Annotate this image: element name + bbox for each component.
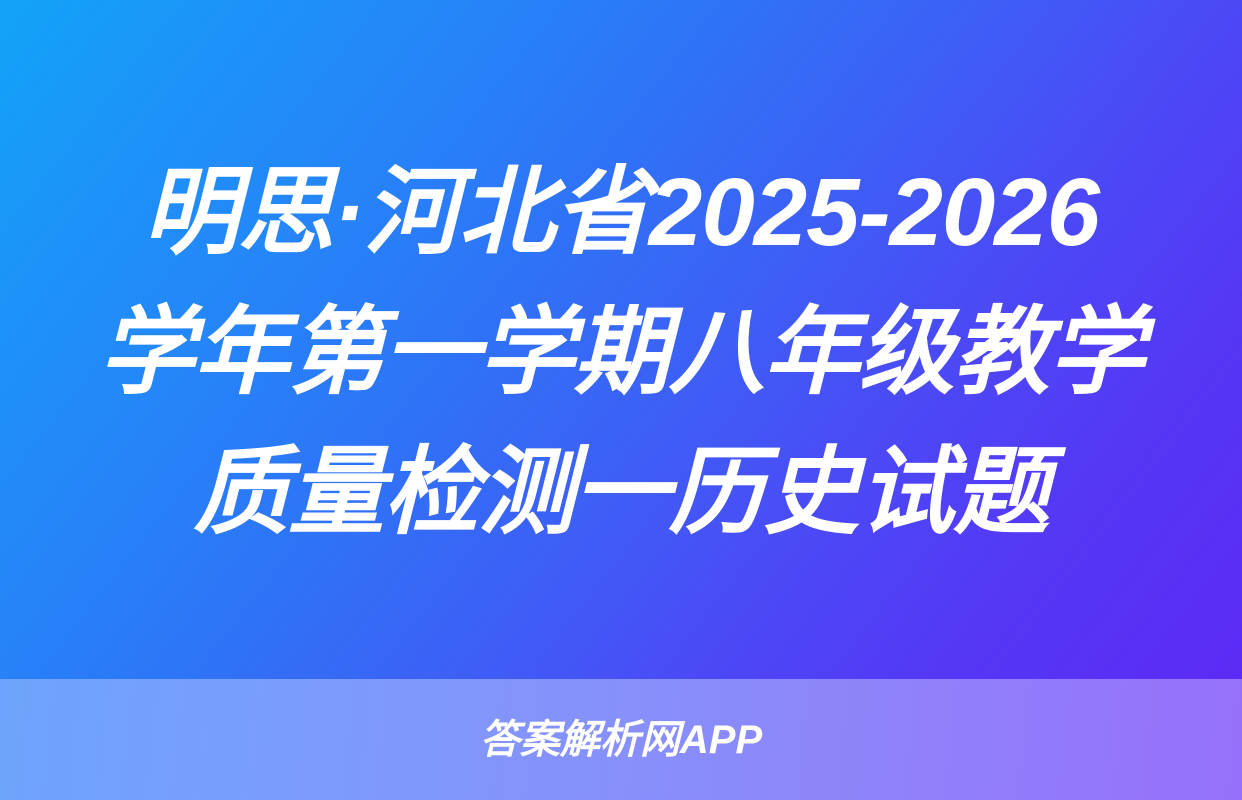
hero-gradient-banner: 明思·河北省2025-2026 学年第一学期八年级教学 质量检测一历史试题 <box>0 0 1242 679</box>
footer-watermark-band: 答案解析网APP <box>0 679 1242 800</box>
exam-title-poster: 明思·河北省2025-2026 学年第一学期八年级教学 质量检测一历史试题 答案… <box>0 0 1242 800</box>
title-line-2: 学年第一学期八年级教学 <box>61 283 1181 423</box>
title-line-1: 明思·河北省2025-2026 <box>61 143 1181 283</box>
page-title: 明思·河北省2025-2026 学年第一学期八年级教学 质量检测一历史试题 <box>61 117 1181 563</box>
title-line-3: 质量检测一历史试题 <box>61 423 1181 563</box>
app-watermark-label: 答案解析网APP <box>480 716 762 764</box>
